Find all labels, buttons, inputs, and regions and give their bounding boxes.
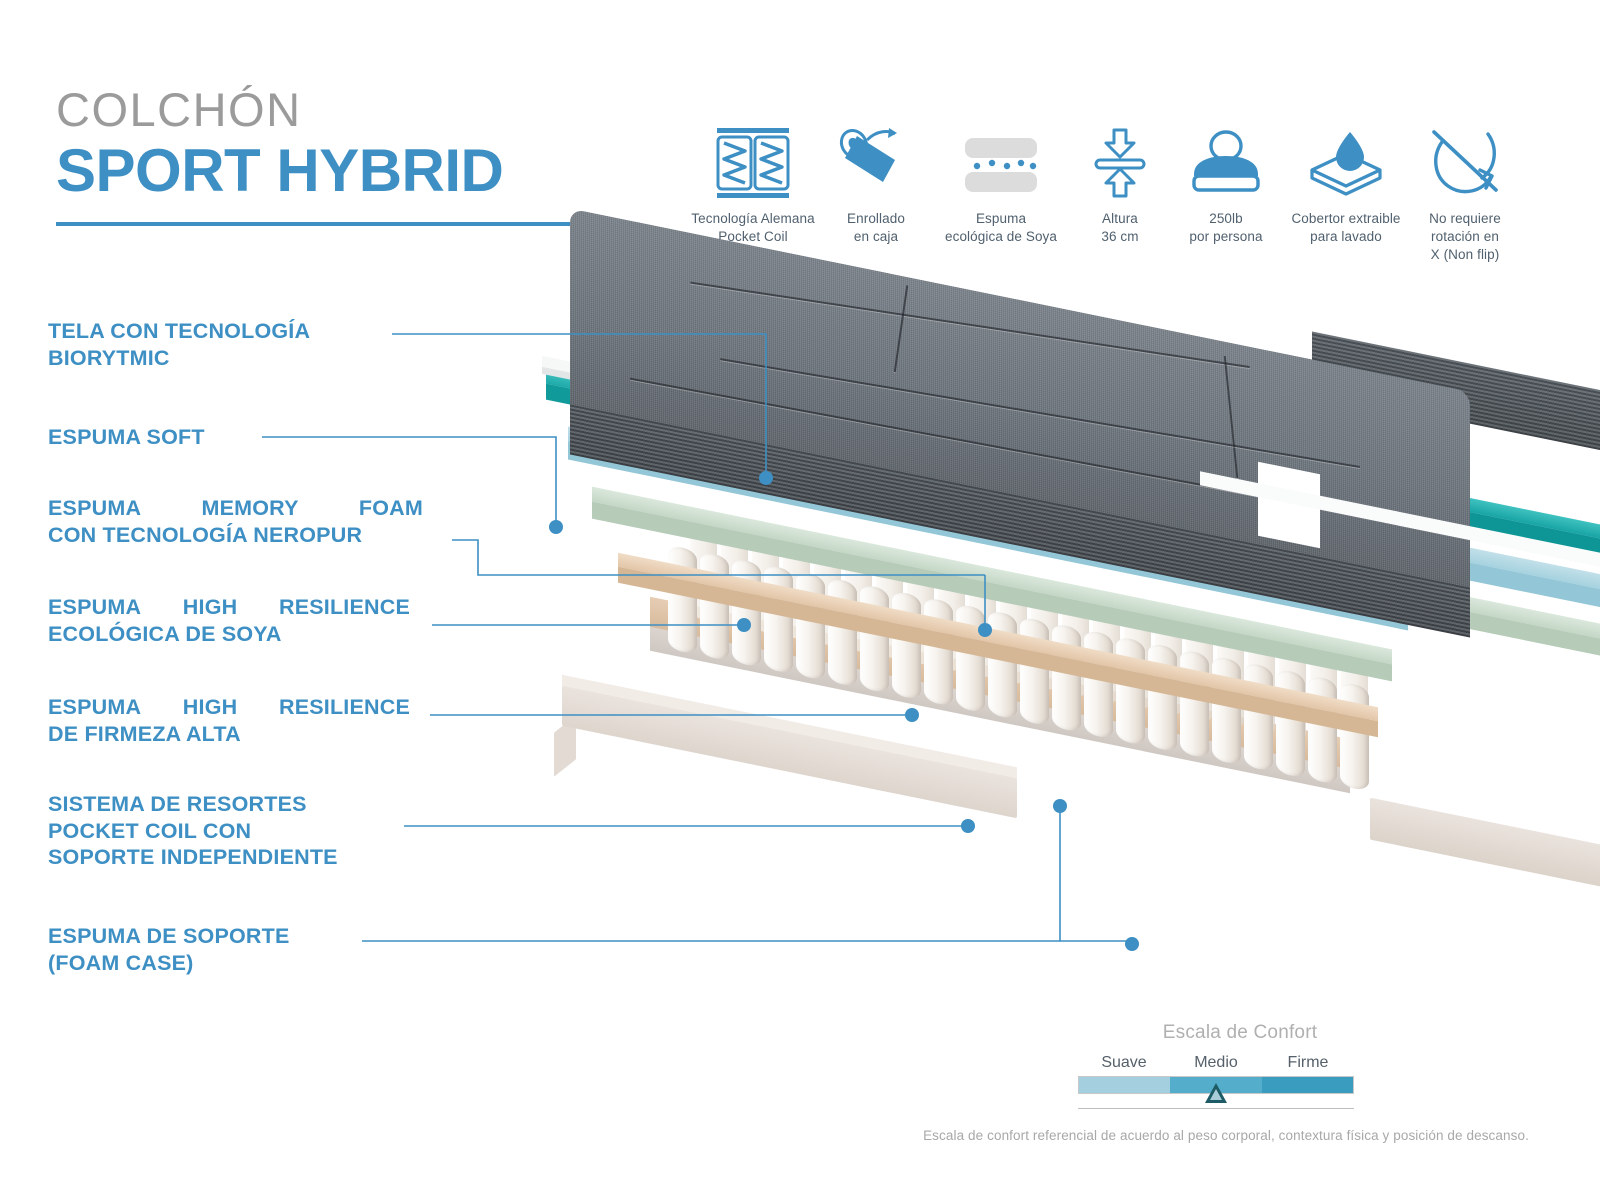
page-title: COLCHÓN SPORT HYBRID [56,86,576,226]
title-underline [56,222,576,226]
feature-caption: 250lb por persona [1189,210,1262,246]
label-pocket-coil-system: SISTEMA DE RESORTES POCKET COIL CON SOPO… [48,791,428,871]
feature-no-flip: No requiere rotación en X (Non flip) [1410,124,1520,265]
comfort-segment-firme [1262,1077,1353,1093]
weight-person-icon [1186,124,1266,202]
soy-foam-icon [955,124,1047,202]
feature-soy-foam: Espuma ecológica de Soya [932,124,1070,246]
title-eyebrow: COLCHÓN [56,86,576,133]
feature-icon-row: Tecnología Alemana Pocket Coil Enrollado… [686,124,1520,265]
comfort-scale-underline [1078,1108,1354,1109]
label-espuma-soft: ESPUMA SOFT [48,424,428,451]
feature-weight: 250lb por persona [1170,124,1282,246]
label-high-resilience-firm: ESPUMAHIGHRESILIENCE DE FIRMEZA ALTA [48,694,410,747]
product-name: SPORT HYBRID [56,139,576,202]
feature-caption: Cobertor extraible para lavado [1291,210,1400,246]
comfort-segment-suave [1079,1077,1170,1093]
comfort-scale-bar[interactable] [1078,1076,1354,1094]
mattress-exploded-diagram [540,300,1600,1000]
height-arrows-icon [1088,124,1152,202]
label-soy-foam: ESPUMAHIGHRESILIENCE ECOLÓGICA DE SOYA [48,594,410,647]
comfort-label-firme: Firme [1262,1054,1354,1072]
feature-washable-cover: Cobertor extraible para lavado [1282,124,1410,246]
rolled-in-box-icon [837,124,915,202]
comfort-scale-note: Escala de confort referencial de acuerdo… [896,1128,1556,1143]
comfort-scale-marker-inner [1210,1089,1222,1100]
foam-case-rail-right [1370,798,1600,889]
feature-pocket-coil: Tecnología Alemana Pocket Coil [686,124,820,246]
feature-caption: Altura 36 cm [1101,210,1138,246]
feature-rolled-in-box: Enrollado en caja [820,124,932,246]
comfort-label-suave: Suave [1078,1054,1170,1072]
feature-caption: Enrollado en caja [847,210,905,246]
comfort-scale: Escala de Confort Suave Medio Firme [1060,1022,1420,1109]
pocket-coil-icon [711,124,795,202]
feature-caption: Espuma ecológica de Soya [945,210,1057,246]
washable-cover-icon [1304,124,1388,202]
label-foam-case: ESPUMA DE SOPORTE (FOAM CASE) [48,923,428,976]
feature-height: Altura 36 cm [1070,124,1170,246]
no-flip-icon [1426,124,1504,202]
feature-caption: No requiere rotación en X (Non flip) [1429,210,1501,265]
comfort-scale-title: Escala de Confort [1060,1022,1420,1044]
label-memory-foam: ESPUMAMEMORYFOAM CON TECNOLOGÍA NEROPUR [48,495,423,548]
comfort-label-medio: Medio [1170,1054,1262,1072]
comfort-scale-labels: Suave Medio Firme [1078,1054,1354,1072]
label-biorytmic: TELA CON TECNOLOGÍA BIORYTMIC [48,318,428,371]
